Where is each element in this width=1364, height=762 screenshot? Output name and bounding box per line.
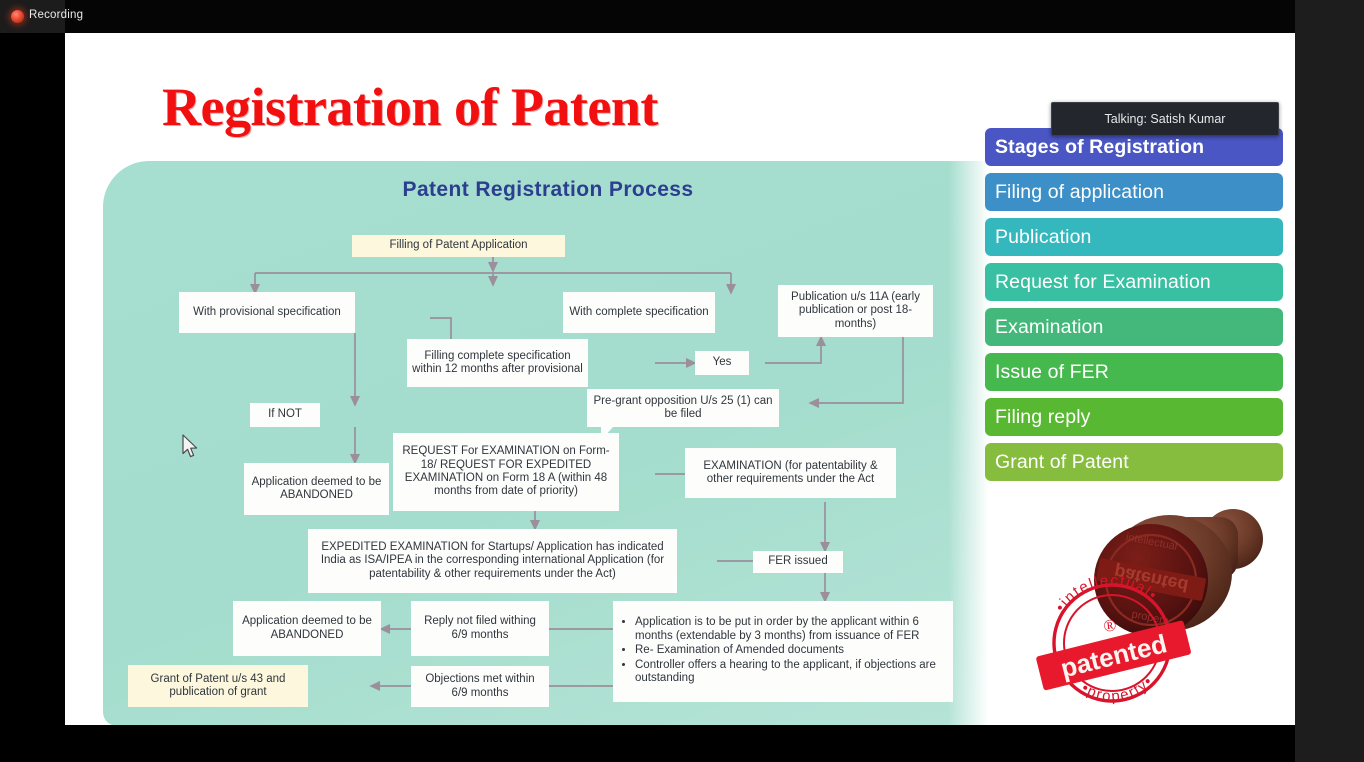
stage-label: Filing of application [995, 181, 1164, 204]
node-with-provisional-specification: With provisional specification [179, 292, 355, 333]
node-filing-complete-specification: Filling complete specification within 12… [407, 339, 588, 387]
node-order-bullets: Application is to be put in order by the… [613, 601, 953, 702]
talking-tooltip-label: Talking: Satish Kumar [1105, 112, 1226, 126]
stage-item-4[interactable]: Examination [985, 308, 1283, 346]
stage-label: Publication [995, 226, 1092, 249]
talking-tooltip: Talking: Satish Kumar [1051, 102, 1279, 136]
node-fer-issued: FER issued [753, 551, 843, 573]
stage-label: Issue of FER [995, 361, 1109, 384]
node-objections-met: Objections met within 6/9 months [411, 666, 549, 707]
node-filing-of-patent-application: Filling of Patent Application [352, 235, 565, 257]
node-with-complete-specification: With complete specification [563, 292, 715, 333]
stage-item-7[interactable]: Grant of Patent [985, 443, 1283, 481]
right-letterbox [1295, 0, 1364, 762]
seal-banner-text: patented [1058, 628, 1170, 683]
stage-item-1[interactable]: Filing of application [985, 173, 1283, 211]
node-application-abandoned-1: Application deemed to be ABANDONED [244, 463, 389, 515]
list-item: Controller offers a hearing to the appli… [635, 659, 944, 686]
node-request-for-examination: REQUEST For EXAMINATION on Form- 18/ REQ… [393, 433, 619, 511]
mouse-pointer-icon [182, 434, 202, 461]
flowchart-panel: Patent Registration Process [103, 161, 993, 725]
node-publication-11a: Publication u/s 11A (early publication o… [778, 285, 933, 337]
page-title: Registration of Patent [162, 76, 658, 138]
stage-label: Request for Examination [995, 271, 1211, 294]
stage-label: Grant of Patent [995, 451, 1129, 474]
list-item: Application is to be put in order by the… [635, 616, 944, 643]
registered-mark-icon: ® [1102, 615, 1117, 635]
stage-item-5[interactable]: Issue of FER [985, 353, 1283, 391]
list-item: Re- Examination of Amended documents [635, 644, 944, 657]
node-pre-grant-opposition: Pre-grant opposition U/s 25 (1) can be f… [587, 389, 779, 427]
stage-item-2[interactable]: Publication [985, 218, 1283, 256]
stage-item-3[interactable]: Request for Examination [985, 263, 1283, 301]
node-expedited-examination: EXPEDITED EXAMINATION for Startups/ Appl… [308, 529, 677, 593]
stage-label: Examination [995, 316, 1103, 339]
stage-label: Filing reply [995, 406, 1090, 429]
stage-label: Stages of Registration [995, 136, 1204, 159]
node-examination: EXAMINATION (for patentability & other r… [685, 448, 896, 498]
recording-label: Recording [29, 9, 83, 21]
stage-item-6[interactable]: Filing reply [985, 398, 1283, 436]
recording-bar: Recording [0, 0, 1364, 33]
stages-list: Stages of Registration Filing of applica… [985, 128, 1283, 488]
record-dot-icon [11, 10, 24, 23]
screen: Recording Registration of Patent Patent … [0, 0, 1364, 762]
node-reply-not-filed: Reply not filed withing 6/9 months [411, 601, 549, 656]
node-if-not: If NOT [250, 403, 320, 427]
node-grant-of-patent: Grant of Patent u/s 43 and publication o… [128, 665, 308, 707]
patented-rubber-stamp: patented intellectual property •intellec… [1020, 495, 1285, 717]
bottom-letterbox [0, 725, 1295, 762]
node-application-abandoned-2: Application deemed to be ABANDONED [233, 601, 381, 656]
presentation-slide: Registration of Patent Patent Registrati… [65, 33, 1295, 725]
node-yes: Yes [695, 351, 749, 375]
order-bullet-list: Application is to be put in order by the… [635, 616, 944, 686]
